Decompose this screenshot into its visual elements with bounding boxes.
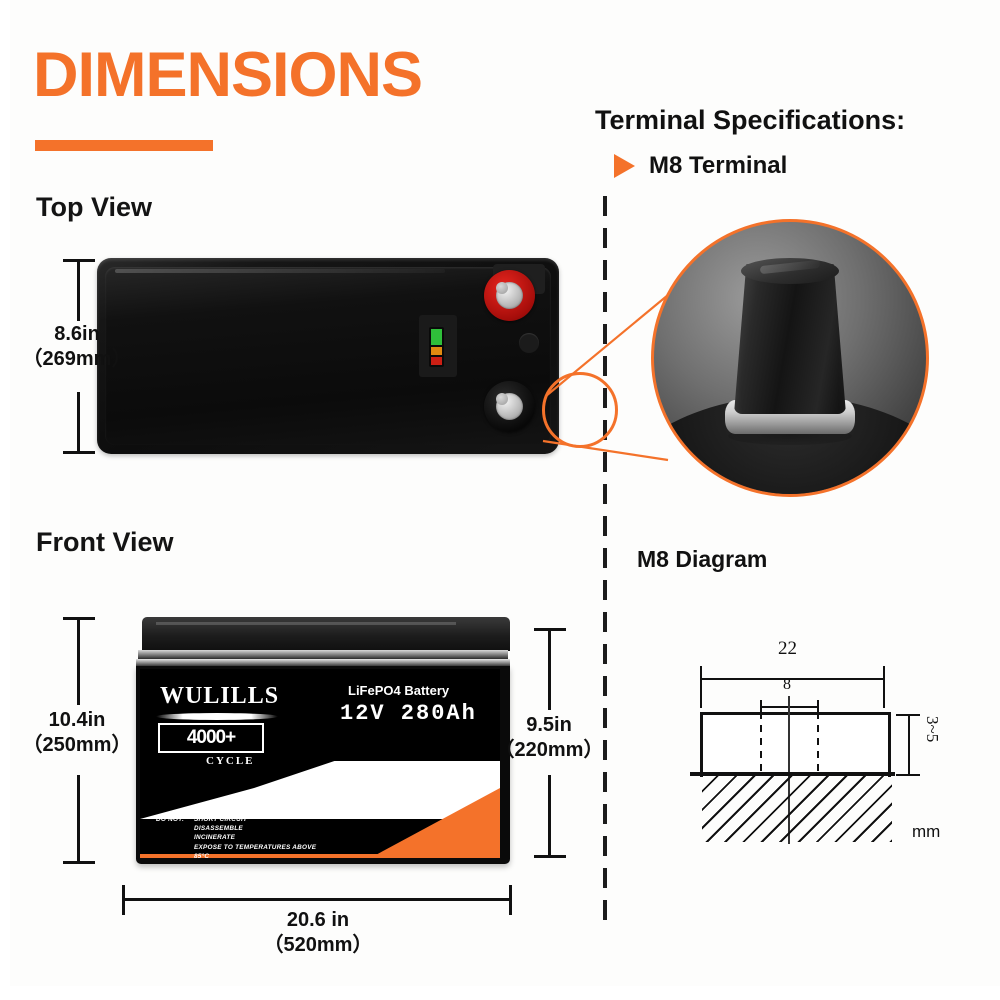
terminal-rubber-cap <box>734 264 846 414</box>
front-view-width-inches: 20.6 in <box>247 908 389 933</box>
m8-hidden-edge-left <box>760 712 762 774</box>
top-view-battery-image <box>97 258 559 454</box>
m8-body-outline <box>700 712 891 777</box>
top-view-height-mm: （269mm） <box>8 347 146 372</box>
battery-lid-highlight <box>156 622 456 625</box>
rating-label: 12V 280Ah <box>340 701 477 726</box>
top-view-height-text: 8.6in （269mm） <box>8 322 146 372</box>
front-view-width-mm: （520mm） <box>247 933 389 958</box>
led-red-segment <box>431 357 442 365</box>
dim-cap-bottom <box>63 451 95 454</box>
warning-item-0: SHORT CIRCUIT <box>194 816 247 823</box>
led-orange-segment <box>431 347 442 355</box>
terminal-highlight-ring <box>542 372 618 448</box>
m8-diagram-label: M8 Diagram <box>637 546 767 573</box>
triangle-right-icon <box>614 154 635 178</box>
front-view-height-inches: 10.4in <box>6 708 148 733</box>
warning-item-3: EXPOSE TO TEMPERATURES ABOVE <box>194 844 316 851</box>
brand-swoosh-icon <box>156 713 278 720</box>
fv-dim-line-upper <box>77 617 80 705</box>
warning-item-4: 85°C <box>194 853 209 858</box>
cv-dim-line-upper <box>548 628 551 710</box>
negative-terminal <box>484 381 535 432</box>
terminal-nut-positive <box>496 282 523 309</box>
cv-dim-line-lower <box>548 775 551 857</box>
battery-top-highlight <box>115 269 445 273</box>
warning-line-0: DO NOT:SHORT CIRCUIT <box>156 815 316 824</box>
label-white-chevron <box>140 761 500 819</box>
title-underline-rule <box>35 140 213 151</box>
bottom-page-margin <box>0 986 1000 1000</box>
battery-rim-upper <box>138 650 508 659</box>
vertical-dashed-divider <box>603 196 607 926</box>
chemistry-label: LiFePO4 Battery <box>348 683 449 698</box>
positive-terminal <box>484 270 535 321</box>
led-strip <box>429 327 444 367</box>
m8-technical-drawing: 22 8 3~5 mm <box>690 640 980 870</box>
front-view-width-text: 20.6 in （520mm） <box>247 908 389 958</box>
cycle-word-label: CYCLE <box>206 755 255 767</box>
cv-dim-cap-bottom <box>534 855 566 858</box>
top-view-height-inches: 8.6in <box>8 322 146 347</box>
m8-outer-width-value: 22 <box>778 638 797 660</box>
terminal-specifications-heading: Terminal Specifications: <box>595 105 905 136</box>
page-title: DIMENSIONS <box>33 44 422 107</box>
m8-thickness-value: 3~5 <box>922 716 942 742</box>
width-cap-right <box>509 885 512 915</box>
top-view-label: Top View <box>36 192 152 223</box>
left-page-margin <box>0 0 10 1000</box>
case-height-mm: （220mm） <box>478 738 620 763</box>
terminal-nut-negative <box>496 393 523 420</box>
warning-item-1: DISASSEMBLE <box>194 825 243 832</box>
led-green-segment <box>431 329 442 345</box>
warning-text-block: DO NOT:SHORT CIRCUIT DISASSEMBLE INCINER… <box>156 815 316 858</box>
m8-thickness-cap-top <box>896 714 920 716</box>
front-view-case-height-text: 9.5in （220mm） <box>478 713 620 763</box>
fv-dim-cap-bottom <box>63 861 95 864</box>
warning-item-2: INCINERATE <box>194 834 235 841</box>
m8-outer-dim-line <box>700 678 885 680</box>
front-view-battery-image: WULILLS 4000+ CYCLE LiFePO4 Battery 12V … <box>136 617 510 864</box>
infographic-page: DIMENSIONS Top View Front View Terminal … <box>0 0 1000 1000</box>
m8-inner-width-value: 8 <box>783 676 791 694</box>
m8-terminal-photo <box>651 219 929 497</box>
battery-top-vent <box>519 333 539 353</box>
m8-thickness-dim-line <box>908 714 910 776</box>
brand-name: WULILLS <box>160 683 279 710</box>
m8-unit-label: mm <box>912 822 940 842</box>
width-dim-line <box>122 898 512 901</box>
dim-line-upper <box>77 259 80 321</box>
m8-outer-ext-right <box>883 666 885 708</box>
front-view-label: Front View <box>36 527 174 558</box>
charge-indicator-led <box>419 315 457 377</box>
battery-case-front: WULILLS 4000+ CYCLE LiFePO4 Battery 12V … <box>136 666 510 864</box>
m8-hatching <box>702 776 892 842</box>
fv-dim-line-lower <box>77 775 80 863</box>
cycle-count-badge: 4000+ <box>158 723 264 753</box>
cycle-count-value: 4000+ <box>187 727 235 749</box>
warning-item-4-row: 85°C <box>156 852 316 858</box>
battery-lid <box>142 617 510 651</box>
m8-terminal-bullet: M8 Terminal <box>614 152 787 180</box>
m8-outer-ext-left <box>700 666 702 708</box>
m8-terminal-label: M8 Terminal <box>649 152 787 180</box>
warning-item-1-row: DISASSEMBLE <box>156 824 316 833</box>
battery-product-label: WULILLS 4000+ CYCLE LiFePO4 Battery 12V … <box>140 669 500 858</box>
warning-item-3-row: EXPOSE TO TEMPERATURES ABOVE <box>156 843 316 852</box>
m8-hidden-edge-right <box>817 712 819 774</box>
warning-heading: DO NOT: <box>156 815 194 824</box>
case-height-inches: 9.5in <box>478 713 620 738</box>
battery-case-top <box>97 258 559 454</box>
warning-item-2-row: INCINERATE <box>156 833 316 842</box>
front-view-height-text: 10.4in （250mm） <box>6 708 148 758</box>
m8-thickness-cap-bottom <box>896 774 920 776</box>
dim-line-lower <box>77 392 80 454</box>
front-view-height-mm: （250mm） <box>6 733 148 758</box>
